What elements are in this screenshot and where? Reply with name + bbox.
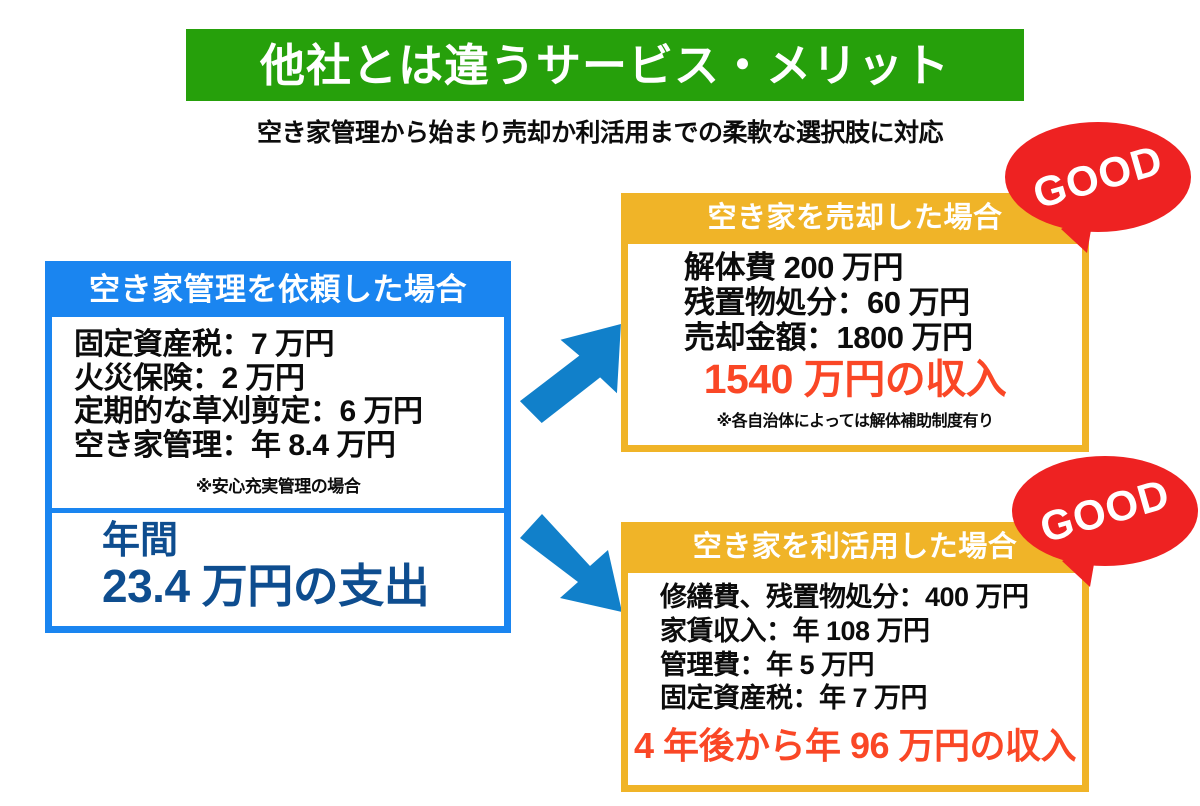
card-manage-request: 空き家管理を依頼した場合 固定資産税：7 万円 火災保険：2 万円 定期的な草刈… (45, 261, 511, 633)
list-item: 管理費：年 5 万円 (660, 649, 1082, 683)
list-item: 残置物処分：60 万円 (684, 285, 1082, 320)
manage-total-period: 年間 (102, 522, 504, 562)
sell-result-amount: 1540 万円の収入 (628, 355, 1082, 403)
good-badge-sell: GOOD (1003, 121, 1193, 253)
list-item: 家賃収入：年 108 万円 (660, 615, 1082, 649)
list-item: 固定資産税：年 7 万円 (660, 682, 1082, 716)
list-item: 売却金額：1800 万円 (684, 320, 1082, 355)
good-badge-reuse: GOOD (1010, 455, 1200, 587)
manage-total-amount: 23.4 万円の支出 (102, 562, 504, 612)
card-sell-body: 解体費 200 万円 残置物処分：60 万円 売却金額：1800 万円 1540… (621, 244, 1089, 452)
manage-cost-list: 固定資産税：7 万円 火災保険：2 万円 定期的な草刈剪定：6 万円 空き家管理… (52, 317, 504, 465)
manage-footnote: ※安心充実管理の場合 (52, 465, 504, 508)
list-item: 解体費 200 万円 (684, 250, 1082, 285)
card-manage-header-label: 空き家管理を依頼した場合 (89, 274, 467, 305)
card-reuse-body: 修繕費、残置物処分：400 万円 家賃収入：年 108 万円 管理費：年 5 万… (621, 573, 1089, 792)
arrow-up-right-icon (516, 322, 626, 426)
reuse-cost-list: 修繕費、残置物処分：400 万円 家賃収入：年 108 万円 管理費：年 5 万… (628, 573, 1082, 716)
list-item: 火災保険：2 万円 (74, 362, 504, 396)
sell-cost-list: 解体費 200 万円 残置物処分：60 万円 売却金額：1800 万円 (628, 244, 1082, 355)
arrow-down-right-icon (516, 512, 626, 616)
reuse-result-amount: 4 年後から年 96 万円の収入 (628, 716, 1082, 785)
card-reuse-header-label: 空き家を利活用した場合 (693, 533, 1018, 562)
sell-footnote: ※各自治体によっては解体補助制度有り (628, 403, 1082, 445)
infographic-canvas: 他社とは違うサービス・メリット 空き家管理から始まり売却か利活用までの柔軟な選択… (0, 0, 1200, 806)
list-item: 固定資産税：7 万円 (74, 328, 504, 362)
manage-total-section: 年間 23.4 万円の支出 (52, 508, 504, 626)
page-title: 他社とは違うサービス・メリット (260, 43, 950, 88)
card-manage-header: 空き家管理を依頼した場合 (45, 261, 511, 317)
card-sell-header-label: 空き家を売却した場合 (707, 204, 1002, 233)
list-item: 空き家管理：年 8.4 万円 (74, 429, 504, 463)
page-title-bar: 他社とは違うサービス・メリット (186, 29, 1024, 101)
card-manage-body: 固定資産税：7 万円 火災保険：2 万円 定期的な草刈剪定：6 万円 空き家管理… (45, 317, 511, 633)
list-item: 定期的な草刈剪定：6 万円 (74, 395, 504, 429)
